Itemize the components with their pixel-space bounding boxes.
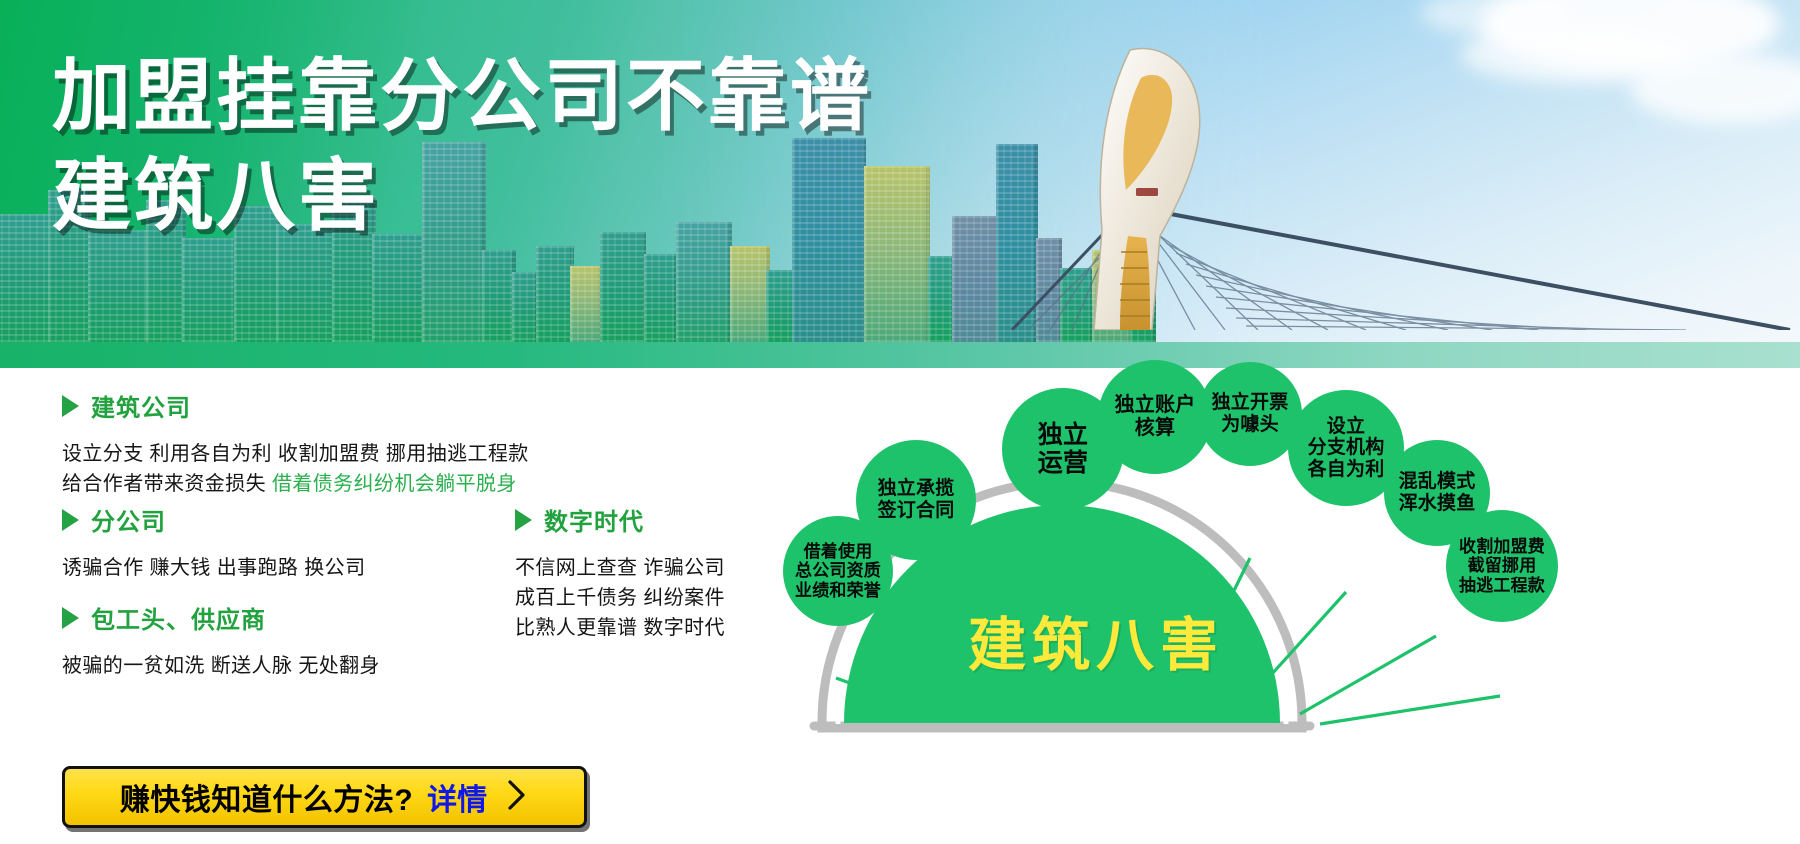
section-branch-company: 分公司 诱骗合作 赚大钱 出事跑路 换公司 xyxy=(62,502,365,583)
bubble-b8[interactable]: 收割加盟费 截留挪用 抽逃工程款 xyxy=(1446,510,1558,622)
bubble-line: 抽逃工程款 xyxy=(1459,576,1545,595)
bubble-line: 为噱头 xyxy=(1212,414,1289,436)
bubble-line: 业绩和荣誉 xyxy=(795,581,881,600)
section-header: 分公司 xyxy=(62,502,365,537)
triangle-right-icon xyxy=(62,607,79,629)
dome-center-label: 建筑八害 xyxy=(968,598,1224,682)
section-line-text: 给合作者带来资金损失 xyxy=(62,473,272,495)
section-line: 比熟人更靠谱 数字时代 xyxy=(515,613,725,643)
bubble-b4[interactable]: 独立账户 核算 xyxy=(1098,360,1212,474)
section-line: 成百上千债务 纠纷案件 xyxy=(515,583,725,613)
bubble-line: 各自为利 xyxy=(1308,459,1385,481)
bubble-line: 收割加盟费 xyxy=(1459,537,1545,556)
bubble-line: 设立 xyxy=(1308,416,1385,438)
bubble-line: 独立开票 xyxy=(1212,392,1289,414)
poster-root: 加盟挂靠分公司不靠谱 建筑八害 建筑公司 设立分支 利用各自为利 收割加盟费 挪… xyxy=(0,0,1800,844)
section-line: 诱骗合作 赚大钱 出事跑路 换公司 xyxy=(62,553,365,583)
bubble-line: 独立承揽 xyxy=(878,478,955,500)
cta-main-label: 赚快钱知道什么方法? xyxy=(120,775,413,819)
hero-banner: 加盟挂靠分公司不靠谱 建筑八害 xyxy=(0,0,1800,368)
bubble-line: 签订合同 xyxy=(878,500,955,522)
bubble-line: 混乱模式 xyxy=(1399,471,1476,493)
section-line: 给合作者带来资金损失 借着债务纠纷机会躺平脱身 xyxy=(62,469,529,499)
bubble-line: 总公司资质 xyxy=(795,561,881,580)
section-header: 数字时代 xyxy=(515,502,725,537)
bubble-line: 截留挪用 xyxy=(1459,556,1545,575)
section-line: 被骗的一贫如洗 断送人脉 无处翻身 xyxy=(62,651,380,681)
bubble-line: 独立账户 xyxy=(1115,394,1196,417)
bubble-b5[interactable]: 独立开票 为噱头 xyxy=(1198,362,1302,466)
bubble-line: 运营 xyxy=(1038,449,1088,478)
section-title: 包工头、供应商 xyxy=(91,600,266,635)
section-line-highlight: 借着债务纠纷机会躺平脱身 xyxy=(272,473,517,495)
triangle-right-icon xyxy=(62,509,79,531)
section-line: 设立分支 利用各自为利 收割加盟费 挪用抽逃工程款 xyxy=(62,439,529,469)
section-header: 建筑公司 xyxy=(62,388,529,423)
section-line: 不信网上查查 诈骗公司 xyxy=(515,553,725,583)
hero-title-line1: 加盟挂靠分公司不靠谱 xyxy=(52,54,872,138)
bubble-line: 核算 xyxy=(1115,417,1196,440)
bridge-illustration xyxy=(1010,40,1800,330)
bubble-line: 独立 xyxy=(1038,421,1088,450)
section-title: 分公司 xyxy=(91,502,166,537)
bubble-line: 分支机构 xyxy=(1308,437,1385,459)
section-body: 被骗的一贫如洗 断送人脉 无处翻身 xyxy=(62,651,380,681)
section-body: 设立分支 利用各自为利 收割加盟费 挪用抽逃工程款 给合作者带来资金损失 借着债… xyxy=(62,439,529,499)
section-digital-era: 数字时代 不信网上查查 诈骗公司 成百上千债务 纠纷案件 比熟人更靠谱 数字时代 xyxy=(515,502,725,643)
bubble-line: 浑水摸鱼 xyxy=(1399,493,1476,515)
cta-button[interactable]: 赚快钱知道什么方法? 详情 xyxy=(62,766,587,828)
section-title: 数字时代 xyxy=(544,502,644,537)
cta-detail-label: 详情 xyxy=(427,775,487,819)
page-title: 加盟挂靠分公司不靠谱 建筑八害 xyxy=(52,54,872,237)
hero-title-line2: 建筑八害 xyxy=(52,154,872,238)
section-body: 诱骗合作 赚大钱 出事跑路 换公司 xyxy=(62,553,365,583)
section-title: 建筑公司 xyxy=(91,388,191,423)
triangle-right-icon xyxy=(62,395,79,417)
section-header: 包工头、供应商 xyxy=(62,600,380,635)
bubble-line: 借着使用 xyxy=(795,542,881,561)
chevron-right-icon xyxy=(505,778,529,817)
section-contractor-supplier: 包工头、供应商 被骗的一贫如洗 断送人脉 无处翻身 xyxy=(62,600,380,681)
eight-harms-diagram: 建筑八害 借着使用 总公司资质 业绩和荣誉 独立承揽 签订合同 独立 运营 独立… xyxy=(800,330,1800,844)
triangle-right-icon xyxy=(515,509,532,531)
section-body: 不信网上查查 诈骗公司 成百上千债务 纠纷案件 比熟人更靠谱 数字时代 xyxy=(515,553,725,643)
bubble-b2[interactable]: 独立承揽 签订合同 xyxy=(856,440,976,560)
section-construction-company: 建筑公司 设立分支 利用各自为利 收割加盟费 挪用抽逃工程款 给合作者带来资金损… xyxy=(62,388,529,499)
